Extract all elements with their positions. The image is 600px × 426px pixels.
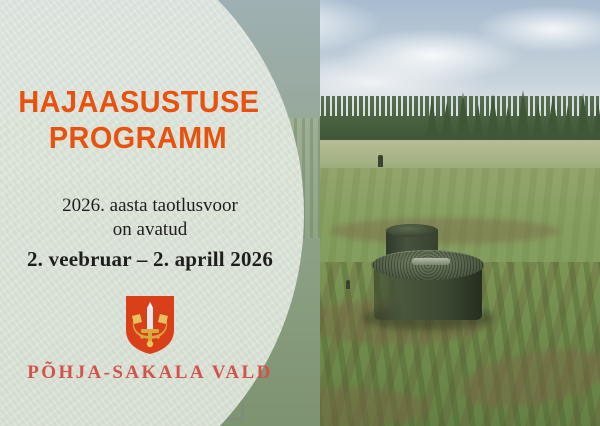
application-period-dates: 2. veebruar – 2. aprill 2026 xyxy=(0,244,300,274)
poster-subtitle: 2026. aasta taotlusvoor on avatud 2. vee… xyxy=(0,194,300,274)
septic-tank-back-lid xyxy=(386,224,438,237)
septic-tank-front-lid xyxy=(372,250,484,280)
dirt-patch xyxy=(330,218,560,244)
field-marker-post xyxy=(346,280,350,289)
municipality-branding: PÕHJA-SAKALA VALD xyxy=(0,294,300,384)
municipality-name: PÕHJA-SAKALA VALD xyxy=(27,362,272,384)
headline-line-1: HAJAASUSTUSE xyxy=(10,84,267,120)
subtitle-line-1: 2026. aasta taotlusvoor xyxy=(0,194,300,218)
poster-headline: HAJAASUSTUSE PROGRAMM xyxy=(10,84,267,156)
poster-content: HAJAASUSTUSE PROGRAMM 2026. aasta taotlu… xyxy=(0,0,300,426)
conifer-trees xyxy=(420,78,600,142)
coat-of-arms-icon xyxy=(124,294,176,356)
poster-canvas: HAJAASUSTUSE PROGRAMM 2026. aasta taotlu… xyxy=(0,0,600,426)
field-marker-post xyxy=(378,155,383,167)
subtitle-line-2: on avatud xyxy=(0,218,300,242)
headline-line-2: PROGRAMM xyxy=(10,120,267,156)
septic-tank-handle xyxy=(412,258,450,265)
